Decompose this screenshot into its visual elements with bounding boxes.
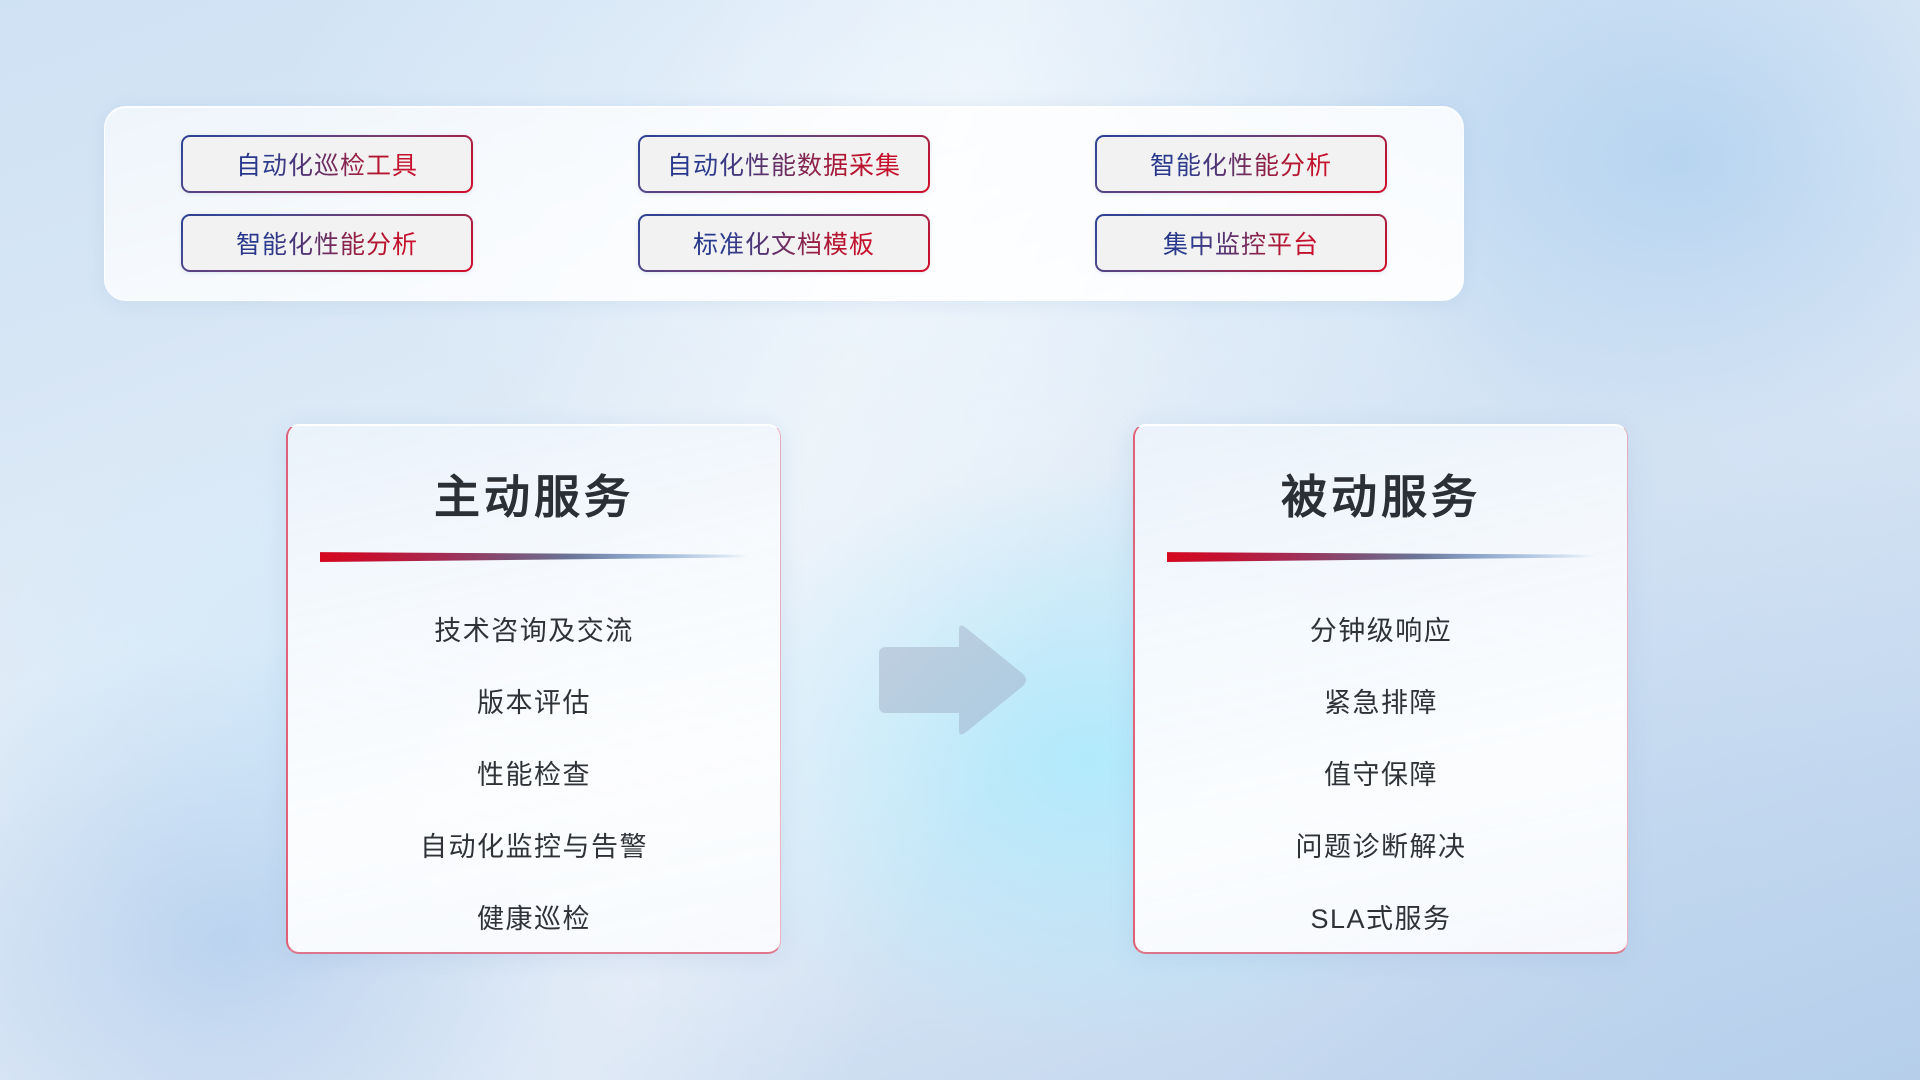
- list-item: SLA式服务: [1310, 880, 1451, 952]
- capability-tag-3-surface: 智能化性能分析: [1097, 137, 1385, 191]
- capability-tag-4-surface: 智能化性能分析: [183, 216, 471, 270]
- list-item: 性能检查: [477, 736, 591, 808]
- service-card-proactive-item-list: 技术咨询及交流 版本评估 性能检查 自动化监控与告警 健康巡检: [322, 592, 746, 952]
- service-card-proactive: 主动服务 技术咨询及交流 版本评估 性能检查 自动化监控与告警 健康巡检: [286, 424, 781, 954]
- capability-tag-2[interactable]: 自动化性能数据采集: [638, 135, 930, 193]
- list-item: 分钟级响应: [1310, 592, 1453, 664]
- list-item: 版本评估: [477, 664, 591, 736]
- divider-gradient-bar: [320, 550, 748, 562]
- capability-tag-5-surface: 标准化文档模板: [640, 216, 928, 270]
- capability-tag-2-surface: 自动化性能数据采集: [640, 137, 928, 191]
- capability-tag-3[interactable]: 智能化性能分析: [1095, 135, 1387, 193]
- list-item: 健康巡检: [477, 880, 591, 952]
- slide-canvas: 自动化巡检工具 自动化性能数据采集 智能化性能分析 智能化性能分析: [0, 0, 1920, 1080]
- service-card-proactive-divider: [320, 550, 748, 562]
- service-card-reactive: 被动服务 分钟级响应 紧急排障 值守保障 问题诊断解决 SLA式服务: [1133, 424, 1628, 954]
- capability-tag-6[interactable]: 集中监控平台: [1095, 214, 1387, 272]
- arrow-right-icon: [873, 622, 1028, 739]
- capability-tag-4-label: 智能化性能分析: [236, 225, 418, 261]
- capability-tag-5-label: 标准化文档模板: [693, 225, 875, 261]
- capability-tag-1-surface: 自动化巡检工具: [183, 137, 471, 191]
- capability-tag-3-label: 智能化性能分析: [1150, 146, 1332, 182]
- capability-tag-2-label: 自动化性能数据采集: [667, 146, 901, 182]
- service-card-reactive-title: 被动服务: [1281, 471, 1481, 524]
- list-item: 自动化监控与告警: [420, 808, 648, 880]
- service-card-proactive-title: 主动服务: [434, 471, 634, 524]
- capability-tag-1[interactable]: 自动化巡检工具: [181, 135, 473, 193]
- capability-tag-1-label: 自动化巡检工具: [236, 146, 418, 182]
- list-item: 问题诊断解决: [1296, 808, 1467, 880]
- capability-tag-4[interactable]: 智能化性能分析: [181, 214, 473, 272]
- list-item: 紧急排障: [1324, 664, 1438, 736]
- service-card-reactive-divider: [1167, 550, 1595, 562]
- service-card-reactive-item-list: 分钟级响应 紧急排障 值守保障 问题诊断解决 SLA式服务: [1169, 592, 1593, 952]
- list-item: 值守保障: [1324, 736, 1438, 808]
- capability-tags-panel: 自动化巡检工具 自动化性能数据采集 智能化性能分析 智能化性能分析: [104, 106, 1464, 301]
- capability-tag-5[interactable]: 标准化文档模板: [638, 214, 930, 272]
- capability-tag-6-label: 集中监控平台: [1163, 225, 1319, 261]
- list-item: 技术咨询及交流: [434, 592, 634, 664]
- capability-tag-6-surface: 集中监控平台: [1097, 216, 1385, 270]
- divider-gradient-bar: [1167, 550, 1595, 562]
- capability-tags-row-2: 智能化性能分析 标准化文档模板 集中监控平台: [181, 214, 1387, 272]
- capability-tags-row-1: 自动化巡检工具 自动化性能数据采集 智能化性能分析: [181, 135, 1387, 193]
